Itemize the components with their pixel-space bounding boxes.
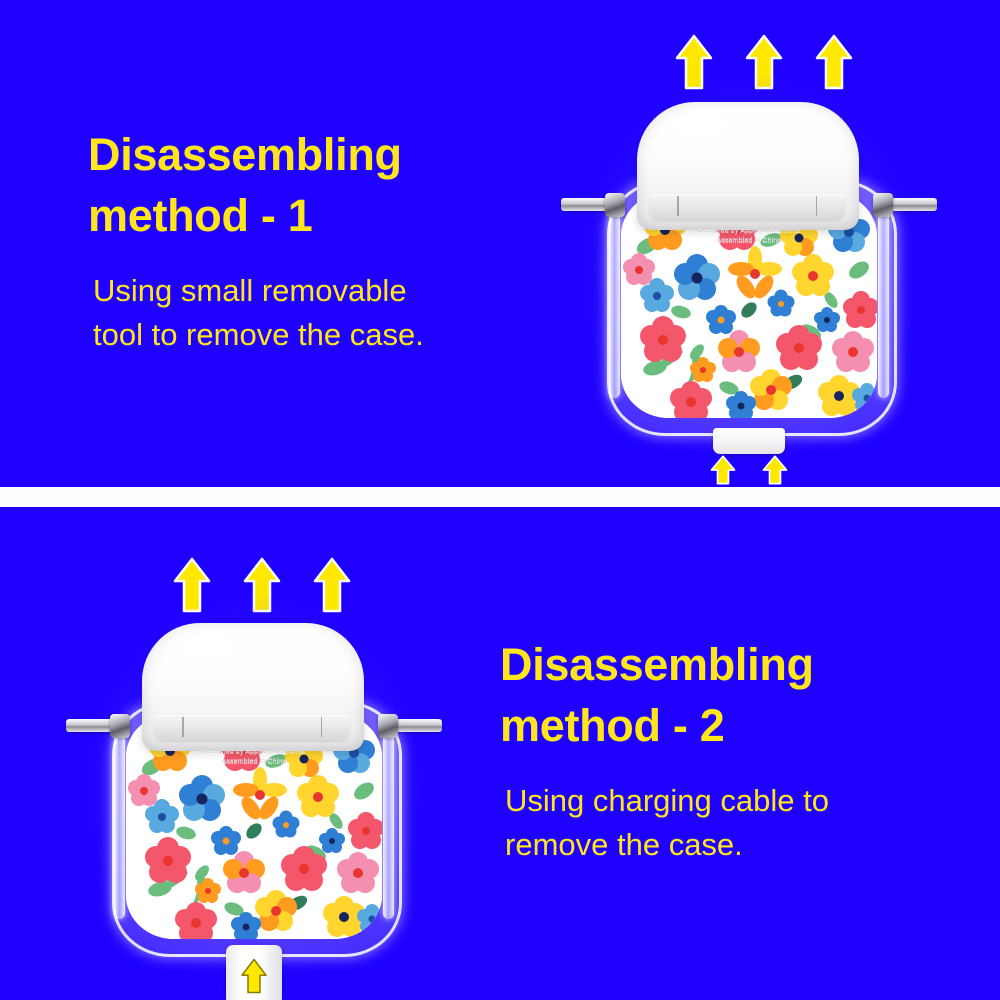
case-engraving: Designed by Apple in California Assemble… <box>108 747 400 767</box>
subline-method-2: Using charging cable to remove the case. <box>505 779 960 869</box>
up-arrow-icon <box>242 557 282 614</box>
up-arrow-icon <box>814 34 854 91</box>
arrow-row-top-2 <box>172 557 352 614</box>
clip-knob <box>110 714 130 738</box>
up-arrow-icon <box>744 34 784 91</box>
case-engraving: Designed by Apple in California Assemble… <box>603 226 895 246</box>
up-arrow-icon <box>761 455 789 485</box>
headline-method-1: Disassembling method - 1 <box>88 125 558 247</box>
panel-method-2: Disassembling method - 2 Using charging … <box>0 507 1000 1000</box>
clip-knob <box>605 193 625 217</box>
up-arrow-icon <box>709 455 737 485</box>
carabiner-clip-right[interactable] <box>378 711 442 741</box>
clip-bar <box>396 719 442 732</box>
clip-bar <box>66 719 112 732</box>
panel-divider <box>0 487 1000 507</box>
lid-highlight <box>659 110 781 161</box>
up-arrow-icon <box>172 557 212 614</box>
charging-cable-plug[interactable] <box>226 945 282 1000</box>
headline-method-2: Disassembling method - 2 <box>500 635 960 757</box>
carabiner-clip-right[interactable] <box>873 190 937 220</box>
subline-method-1: Using small removable tool to remove the… <box>93 269 558 359</box>
airpods-case-method-1: Designed by Apple in California Assemble… <box>603 94 895 444</box>
up-arrow-icon <box>239 957 269 1000</box>
carabiner-clip-left[interactable] <box>66 711 130 741</box>
text-block-method-1: Disassembling method - 1 Using small rem… <box>88 125 558 358</box>
lid-highlight <box>164 631 286 682</box>
product-instruction-image: Disassembling method - 1 Using small rem… <box>0 0 1000 1000</box>
panel-method-1: Disassembling method - 1 Using small rem… <box>0 0 1000 487</box>
carabiner-clip-left[interactable] <box>561 190 625 220</box>
arrow-row-bottom-1 <box>709 455 789 485</box>
removal-tool-tab[interactable] <box>713 428 785 454</box>
airpods-case-method-2: Designed by Apple in California Assemble… <box>108 615 400 965</box>
up-arrow-icon <box>674 34 714 91</box>
case-hinge-strip <box>154 715 350 741</box>
text-block-method-2: Disassembling method - 2 Using charging … <box>500 635 960 868</box>
up-arrow-icon <box>312 557 352 614</box>
case-hinge-strip <box>649 194 845 220</box>
clip-bar <box>891 198 937 211</box>
clip-knob <box>378 714 398 738</box>
clip-bar <box>561 198 607 211</box>
clip-knob <box>873 193 893 217</box>
arrow-row-top-1 <box>674 34 854 91</box>
